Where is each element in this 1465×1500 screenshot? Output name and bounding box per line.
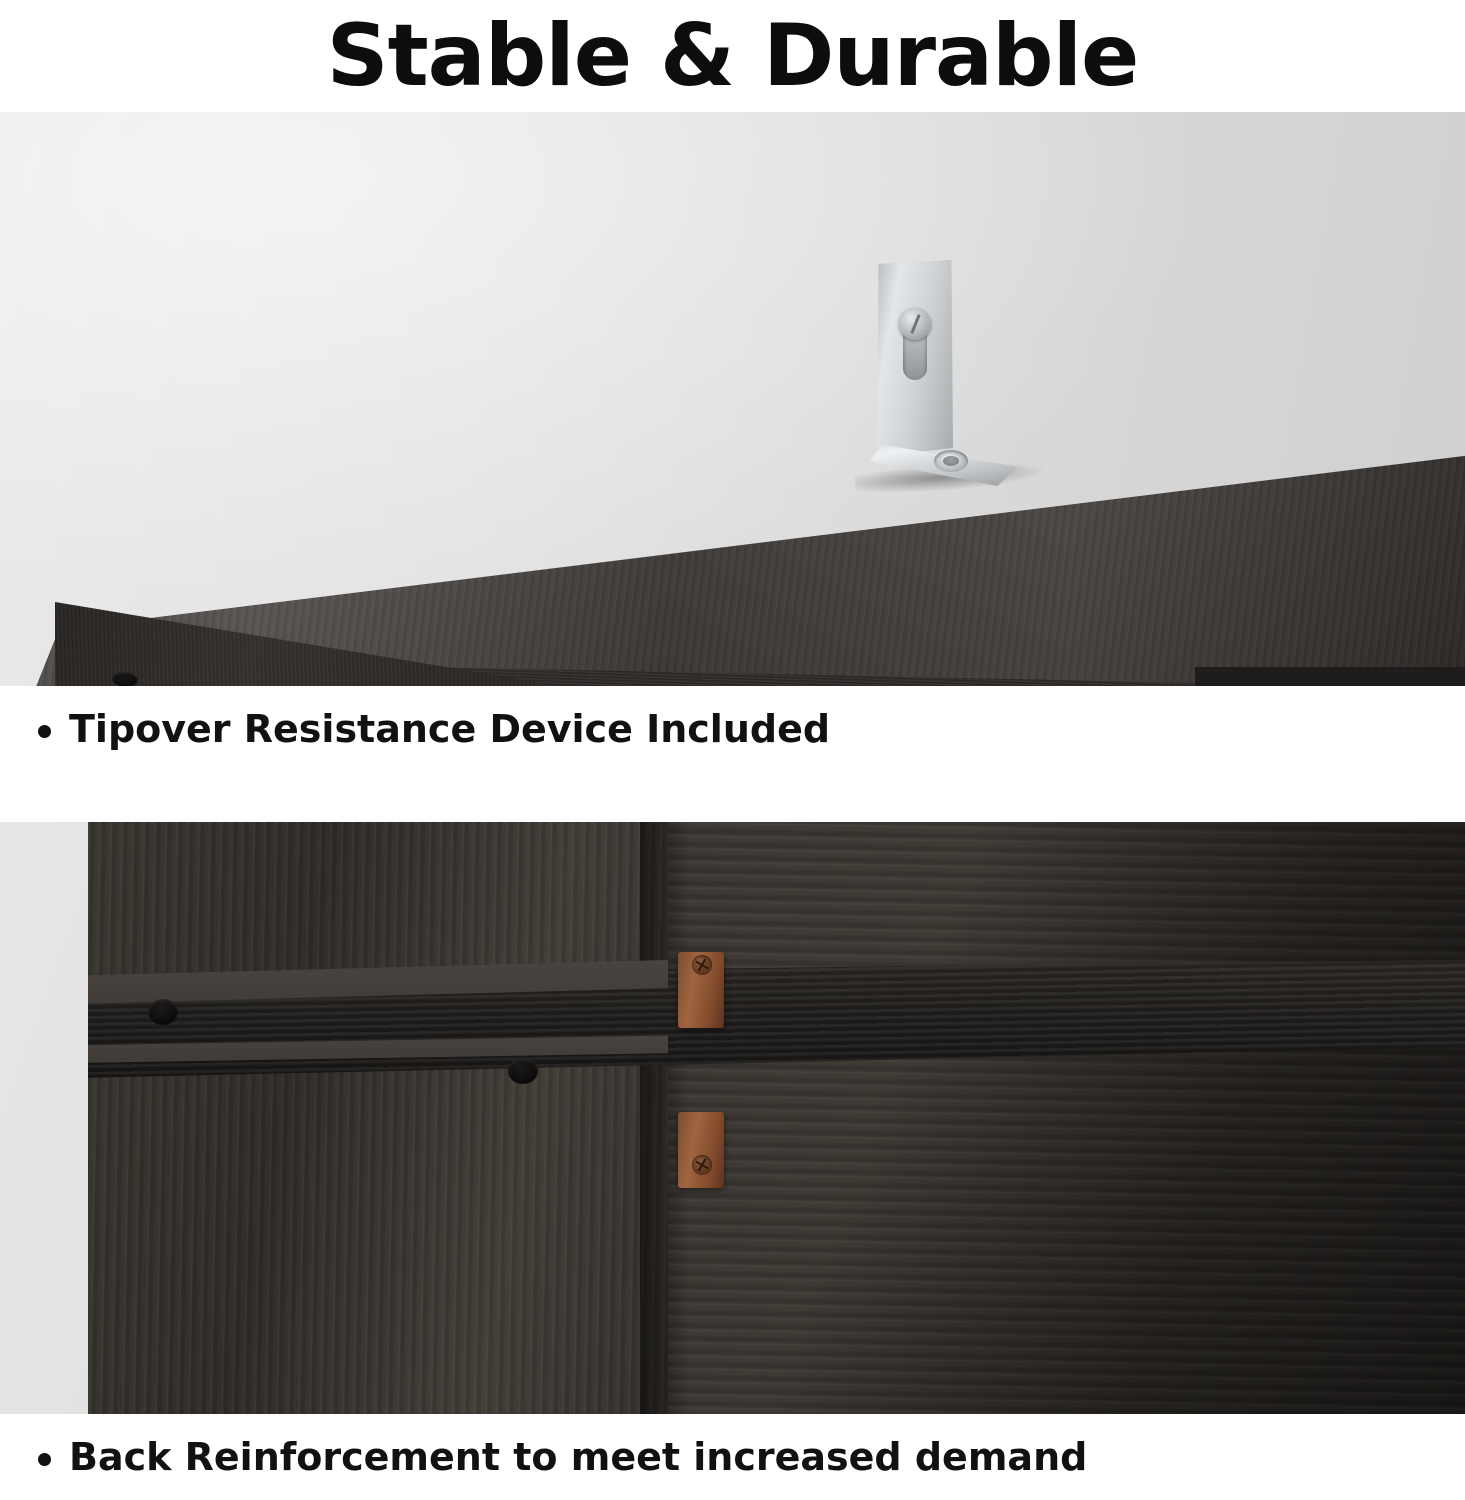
panel-divider bbox=[0, 772, 1465, 822]
bracket-mounting-hole bbox=[934, 450, 968, 472]
bracket-screw-head bbox=[899, 308, 931, 340]
cabinet-side-panel bbox=[88, 822, 668, 1500]
feature-panel-reinforcement: Back Reinforcement to meet increased dem… bbox=[0, 822, 1465, 1500]
title-bar: Stable & Durable bbox=[0, 0, 1465, 112]
caption-text: Tipover Resistance Device Included bbox=[69, 710, 830, 748]
anti-tip-bracket-icon bbox=[870, 260, 1020, 480]
caption-tipover: Tipover Resistance Device Included bbox=[0, 686, 1465, 772]
rail-dowel-hole-right bbox=[508, 1058, 538, 1084]
caption-text: Back Reinforcement to meet increased dem… bbox=[69, 1438, 1087, 1476]
caption-reinforcement: Back Reinforcement to meet increased dem… bbox=[0, 1414, 1465, 1500]
product-feature-graphic: Stable & Durable Tipover Resistance Devi… bbox=[0, 0, 1465, 1500]
bullet-icon bbox=[38, 1453, 51, 1466]
page-title: Stable & Durable bbox=[327, 13, 1139, 99]
rail-dowel-hole-left bbox=[148, 999, 178, 1025]
cabinet-back-shading bbox=[668, 822, 1465, 1500]
bracket-screw-top-icon bbox=[692, 955, 712, 975]
bracket-screw-bottom-icon bbox=[692, 1155, 712, 1175]
bullet-icon bbox=[38, 725, 51, 738]
feature-panel-tipover: Tipover Resistance Device Included bbox=[0, 112, 1465, 772]
metal-reinforcement-bracket-bottom bbox=[678, 1112, 724, 1188]
